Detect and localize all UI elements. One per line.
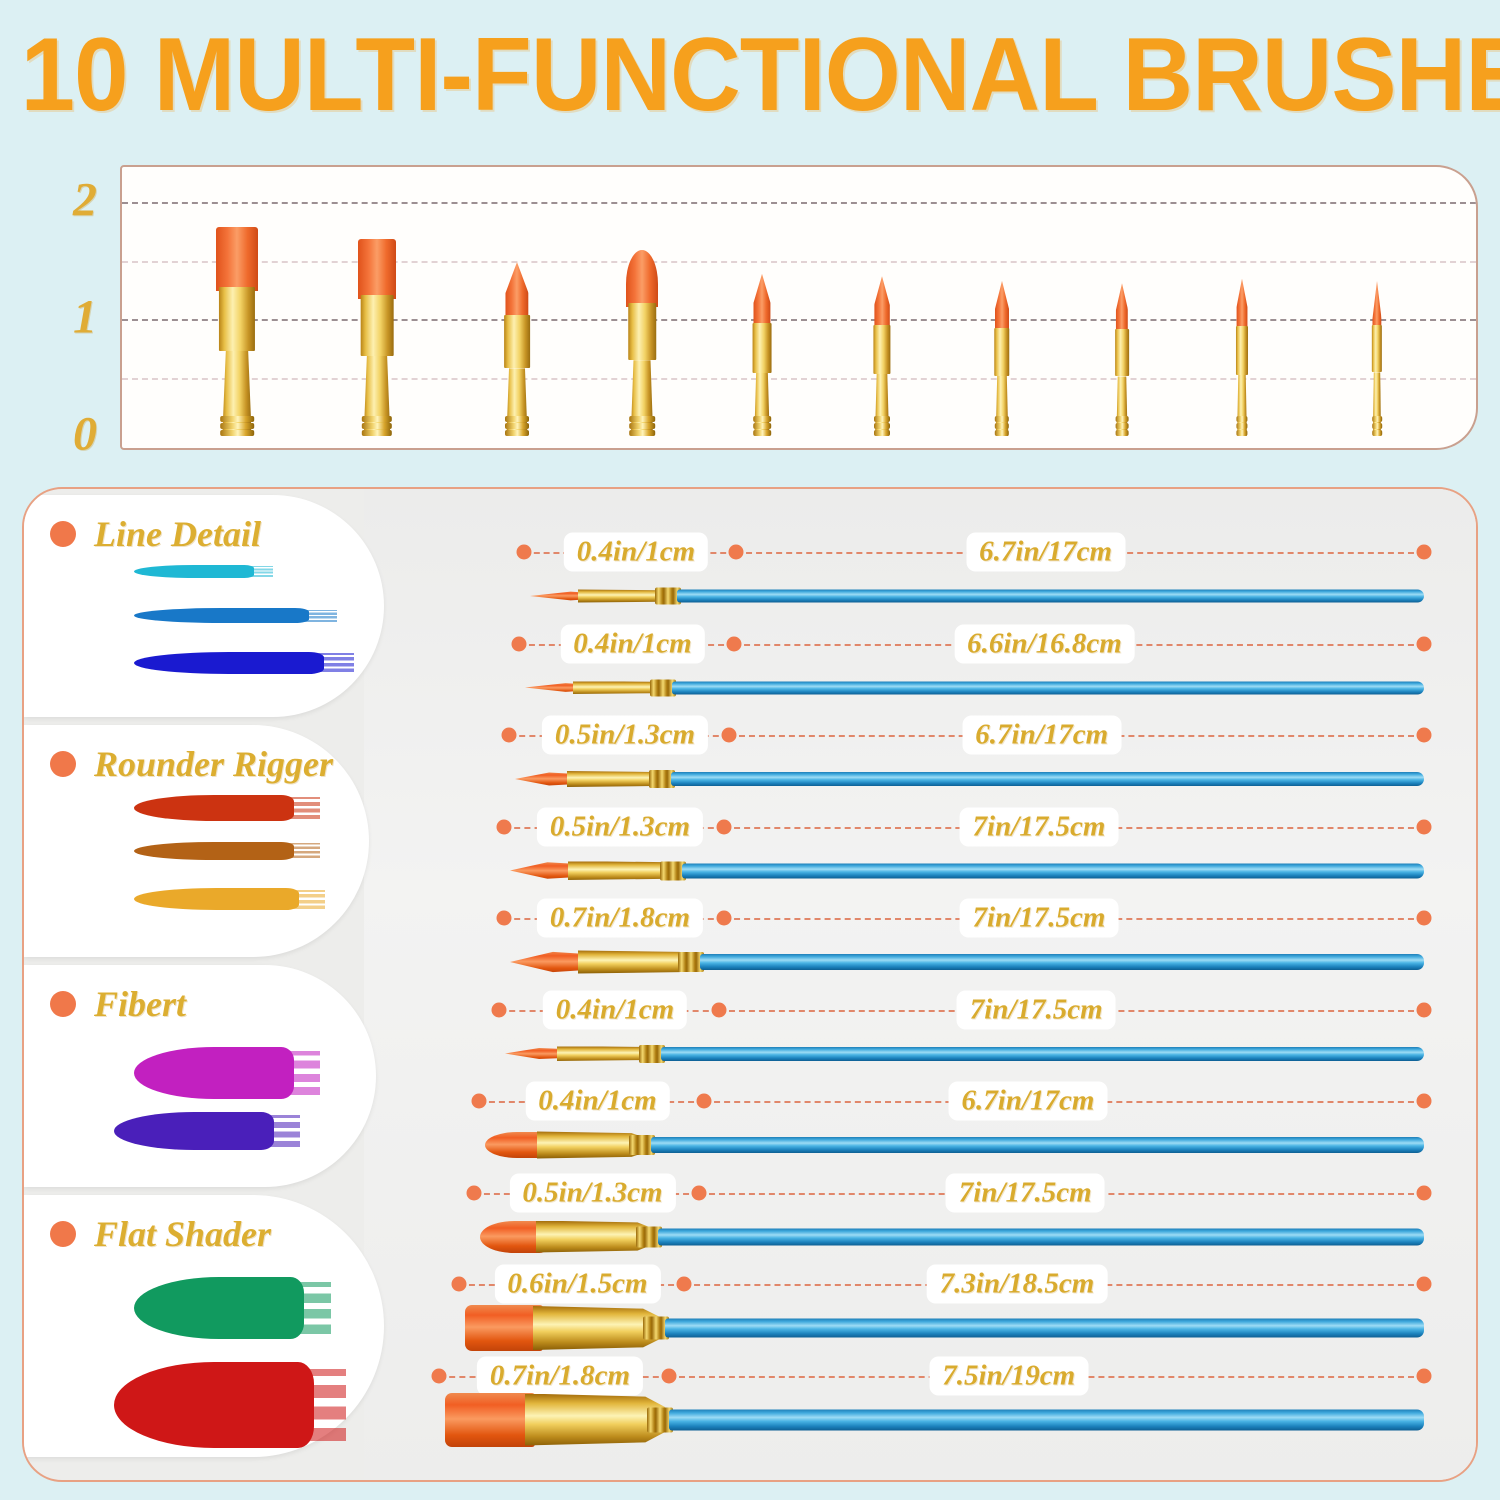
brush-ferrule	[533, 1306, 661, 1350]
category-card-rounder-rigger[interactable]: Rounder Rigger	[24, 725, 369, 957]
page-title: 10 MULTI-FUNCTIONAL BRUSHES	[0, 23, 1500, 127]
brush-9-flat	[465, 1288, 1424, 1368]
paint-swatch-body	[114, 1112, 274, 1150]
paint-swatch-body	[114, 1362, 314, 1448]
ruler-brush-4	[626, 246, 658, 436]
category-card-line-detail[interactable]: Line Detail	[24, 495, 384, 717]
axis-tick-1: 1	[55, 290, 115, 345]
brush-handle	[700, 954, 1424, 970]
category-label: Fibert	[94, 983, 186, 1025]
brush-crimp-band	[1236, 430, 1247, 436]
bullet-dot-icon	[50, 1221, 76, 1247]
brush-crimp-band	[1372, 416, 1382, 422]
brush-7-filbert	[485, 1105, 1424, 1185]
brush-handle	[658, 1228, 1424, 1245]
ruler-brush-8	[1114, 279, 1130, 436]
brush-crimp-band	[1116, 430, 1129, 436]
brush-ferrule	[1372, 325, 1382, 373]
brush-ferrule	[525, 1394, 665, 1446]
brush-crimp-band	[874, 430, 890, 436]
ruler-brush-2	[358, 235, 396, 436]
brush-ferrule	[873, 325, 890, 374]
brush-handle	[669, 1409, 1424, 1430]
brush-10-flat	[445, 1380, 1424, 1460]
brush-5-round	[510, 922, 1424, 1002]
brush-ferrule	[504, 315, 530, 368]
paint-swatch	[134, 1047, 294, 1099]
category-label: Rounder Rigger	[94, 743, 333, 785]
paint-swatch-body	[134, 1047, 294, 1099]
brush-1-liner	[530, 556, 1424, 636]
brush-crimp-band	[874, 423, 890, 429]
paint-swatch	[114, 1362, 314, 1448]
brush-ferrule	[361, 295, 394, 355]
brush-bristle	[465, 1305, 543, 1351]
brush-ferrule	[994, 328, 1009, 376]
brush-bristle	[626, 250, 658, 307]
brush-bristle	[1237, 279, 1248, 331]
ruler-brush-10	[1371, 277, 1383, 436]
gridline-1-5	[122, 261, 1476, 263]
brush-4-round	[510, 831, 1424, 911]
brush-crimp-band	[1236, 416, 1247, 422]
ruler-brush-3	[502, 258, 532, 436]
brush-bristle	[995, 281, 1009, 332]
brush-crimp-band	[753, 423, 771, 429]
ruler-brush-5	[751, 270, 773, 436]
brush-crimp-band	[753, 430, 771, 436]
ruler-brush-7	[993, 277, 1011, 436]
brush-crimp-band	[1236, 423, 1247, 429]
brush-ferrule	[1236, 326, 1248, 374]
ruler-chart-panel	[120, 165, 1478, 450]
brush-crimp-band	[629, 430, 655, 436]
brush-bristle	[1372, 281, 1381, 329]
bullet-dot-icon	[50, 991, 76, 1017]
brush-crimp-band	[629, 423, 655, 429]
brush-bristle	[510, 951, 588, 973]
brush-crimp-band	[1116, 416, 1129, 422]
brush-handle	[677, 590, 1424, 603]
paint-swatch-body	[134, 795, 294, 821]
brush-bristle	[216, 227, 258, 291]
gridline-0-5	[122, 378, 1476, 380]
paint-swatch	[134, 842, 294, 860]
brush-bristle	[1116, 283, 1128, 333]
brush-bristle	[874, 276, 890, 328]
brush-crimp-band	[362, 430, 392, 436]
paint-swatch	[134, 1277, 304, 1339]
brush-crimp-band	[753, 416, 771, 422]
brush-crimp-band	[995, 416, 1009, 422]
category-header: Fibert	[50, 983, 186, 1025]
ruler-brush-1	[216, 223, 258, 436]
paint-swatch-body	[134, 608, 309, 623]
brush-crimp-band	[362, 423, 392, 429]
category-header: Flat Shader	[50, 1213, 271, 1255]
brush-ferrule	[628, 303, 656, 360]
brush-bristle	[753, 274, 770, 327]
brush-handle	[672, 681, 1424, 694]
paint-swatch-body	[134, 842, 294, 860]
brush-crimp-band	[1372, 430, 1382, 436]
page-header: 10 MULTI-FUNCTIONAL BRUSHES	[0, 0, 1500, 150]
brush-crimp-band	[505, 423, 529, 429]
brush-bristle	[358, 239, 396, 299]
bullet-dot-icon	[50, 751, 76, 777]
axis-tick-2: 2	[55, 173, 115, 228]
paint-swatch-body	[134, 652, 324, 674]
brush-crimp-band	[1372, 423, 1382, 429]
brush-crimp-band	[629, 416, 655, 422]
brush-bristle	[445, 1393, 535, 1447]
brush-6-round	[505, 1014, 1424, 1094]
brush-crimp-band	[995, 423, 1009, 429]
gridline-2	[122, 202, 1476, 204]
ruler-axis-labels: 210	[55, 165, 115, 450]
brush-crimp-band	[220, 416, 254, 422]
brush-crimp-band	[995, 430, 1009, 436]
brush-crimp-band	[362, 416, 392, 422]
brush-2-liner	[525, 648, 1424, 728]
brush-bristle	[510, 862, 578, 880]
category-card-fibert[interactable]: Fibert	[24, 965, 376, 1187]
brush-crimp-band	[1116, 423, 1129, 429]
brush-crimp-band	[220, 423, 254, 429]
paint-swatch-body	[134, 565, 254, 578]
specifications-panel: Line DetailRounder RiggerFibertFlat Shad…	[22, 487, 1478, 1482]
paint-swatch-body	[134, 1277, 304, 1339]
category-card-flat-shader[interactable]: Flat Shader	[24, 1195, 384, 1457]
category-header: Line Detail	[50, 513, 261, 555]
paint-swatch	[134, 565, 254, 578]
brush-3-round	[515, 739, 1424, 819]
paint-swatch-body	[134, 888, 299, 910]
ruler-brush-6	[872, 272, 892, 436]
paint-swatch	[134, 795, 294, 821]
brush-ferrule	[1115, 329, 1129, 376]
paint-swatch	[134, 652, 324, 674]
brush-crimp-band	[874, 416, 890, 422]
brush-bristle	[505, 262, 528, 319]
paint-swatch	[134, 888, 299, 910]
category-header: Rounder Rigger	[50, 743, 333, 785]
category-label: Flat Shader	[94, 1213, 271, 1255]
axis-tick-0: 0	[55, 407, 115, 462]
ruler-brush-9	[1235, 275, 1249, 436]
brush-crimp-band	[505, 430, 529, 436]
brush-ferrule	[753, 323, 772, 373]
brush-crimp-band	[220, 430, 254, 436]
brush-handle	[671, 772, 1424, 786]
brush-handle	[651, 1137, 1424, 1153]
brush-crimp-band	[505, 416, 529, 422]
brush-handle	[661, 1047, 1424, 1061]
gridline-1	[122, 319, 1476, 321]
category-label: Line Detail	[94, 513, 261, 555]
brush-8-filbert	[480, 1197, 1424, 1277]
paint-swatch	[114, 1112, 274, 1150]
brush-handle	[665, 1319, 1424, 1338]
paint-swatch	[134, 608, 309, 623]
brush-handle	[682, 863, 1424, 878]
brush-ferrule	[219, 287, 255, 351]
bullet-dot-icon	[50, 521, 76, 547]
